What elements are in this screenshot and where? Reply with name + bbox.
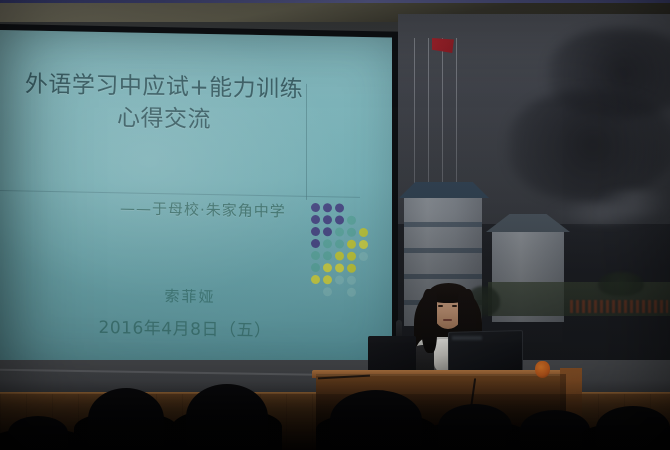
audience-member-head [8,416,68,450]
presentation-room-photo: 外语学习中应试+能力训练 心得交流 ——于母校·朱家角中学 索菲娅 2016年4… [0,0,670,450]
slide-title-line2: 心得交流 [8,100,320,138]
slide-dot [335,275,344,284]
slide-dot [347,276,356,285]
slide-dot [311,251,320,260]
slide-dot [359,240,368,249]
slide-dot [347,264,356,273]
slide-dot [335,215,344,224]
slide-dot [347,216,356,225]
slide-dot [335,263,344,272]
slide-decorative-dot-grid [311,203,373,302]
slide-dot [347,288,356,297]
audience-member-head [186,384,268,450]
slide-dot [323,275,332,284]
audience-member-head [520,410,590,450]
audience-member-head [330,390,422,450]
slide-subtitle: ——于母校·朱家角中学 [120,197,310,222]
slide-dot [347,252,356,261]
slide-dot [311,239,320,248]
presentation-slide: 外语学习中应试+能力训练 心得交流 ——于母校·朱家角中学 索菲娅 2016年4… [0,30,392,372]
presenter-eye-left [438,305,443,307]
slide-dot [323,203,332,212]
slide-title-line1: 外语学习中应试+能力训练 [25,71,303,102]
slide-dot [335,203,344,212]
projection-screen: 外语学习中应试+能力训练 心得交流 ——于母校·朱家角中学 索菲娅 2016年4… [0,30,392,372]
slide-dot [311,275,320,284]
audience-member-head [88,388,164,450]
slide-dot [335,251,344,260]
slide-author: 索菲娅 [100,284,280,308]
audience-member-head [438,404,512,450]
slide-dot [311,263,320,272]
presenter-hair-left [421,289,437,353]
slide-dot [311,227,320,236]
slide-dot [359,228,368,237]
slide-dot [335,227,344,236]
slide-dot [335,239,344,248]
slide-dot [323,227,332,236]
audience-member-head [596,406,670,450]
presenter-eye-right [452,305,457,307]
slide-dot [323,239,332,248]
slide-dot [323,215,332,224]
slide-dot [347,228,356,237]
slide-dot [311,203,320,212]
laptop-screen-glow [452,336,482,340]
slide-dot [323,263,332,272]
slide-dot [323,251,332,260]
slide-dot [323,287,332,296]
slide-dot [347,240,356,249]
slide-title: 外语学习中应试+能力训练 心得交流 [8,68,320,138]
orange-figurine [535,361,550,378]
slide-date: 2016年4月8日（五） [80,313,290,342]
slide-dot [359,252,368,261]
presenter-mouth [443,319,452,321]
slide-dot [311,215,320,224]
slide-vertical-rule [306,84,307,200]
